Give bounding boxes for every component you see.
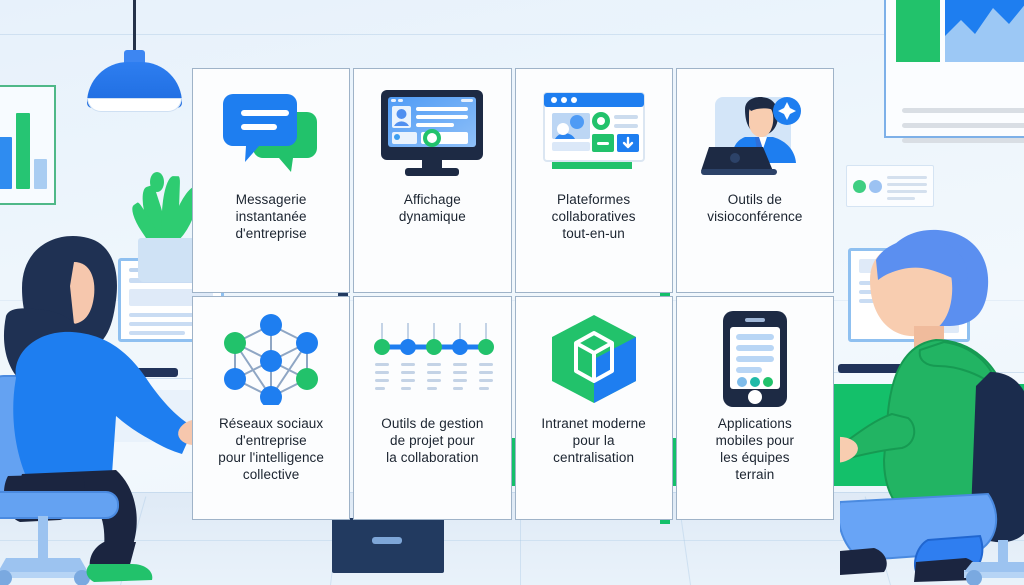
card-label: Messagerieinstantanéed'entreprise (235, 191, 306, 242)
card-text-line (887, 197, 915, 200)
lamp-light (87, 98, 182, 112)
status-dot-green (853, 180, 866, 193)
card-label: Applicationsmobiles pourles équipesterra… (716, 415, 795, 483)
card-label: Plateformescollaborativestout-en-un (552, 191, 636, 242)
video-call-person-icon (701, 85, 809, 181)
card-reseaux[interactable]: Réseaux sociauxd'entreprisepour l'intell… (192, 296, 350, 521)
card-label: Affichagedynamique (399, 191, 466, 225)
poster-green-block (896, 0, 940, 62)
hexagon-cube-icon (546, 313, 642, 405)
smartphone-icon (719, 313, 791, 405)
poster-bar-3 (34, 159, 47, 189)
poster-text-line (902, 123, 1024, 128)
card-mobile[interactable]: Applicationsmobiles pourles équipesterra… (676, 296, 834, 521)
man-figure-svg (840, 222, 1024, 585)
card-label: Outils de gestionde projet pourla collab… (381, 415, 483, 466)
lamp-cord (133, 0, 136, 52)
timeline-gantt-icon (370, 313, 494, 405)
card-gestion-projet[interactable]: Outils de gestionde projet pourla collab… (353, 296, 511, 521)
card-text-line (887, 176, 927, 179)
cabinet-handle (372, 537, 402, 544)
chat-bubbles-icon (219, 85, 323, 181)
card-text-line (887, 190, 927, 193)
card-affichage[interactable]: Affichagedynamique (353, 68, 511, 293)
status-dot-blue (869, 180, 882, 193)
poster-text-line (902, 108, 1024, 113)
poster-chart-svg (945, 0, 1024, 62)
card-label: Réseaux sociauxd'entreprisepour l'intell… (218, 415, 324, 483)
filing-cabinet (332, 518, 444, 573)
card-messagerie[interactable]: Messagerieinstantanéed'entreprise (192, 68, 350, 293)
desktop-monitor-icon (377, 85, 487, 181)
card-text-line (887, 183, 927, 186)
poster-area-chart (945, 0, 1024, 62)
illustration-scene: Messagerieinstantanéed'entreprise (0, 0, 1024, 585)
card-plateformes[interactable]: Plateformescollaborativestout-en-un (515, 68, 673, 293)
card-label: Outils devisioconférence (707, 191, 802, 225)
network-graph-icon (219, 313, 323, 405)
feature-card-grid: Messagerieinstantanéed'entreprise (192, 68, 834, 520)
poster-bar-2 (16, 113, 30, 189)
card-label: Intranet modernepour lacentralisation (541, 415, 645, 466)
poster-bar-1 (0, 137, 12, 189)
notification-card (846, 165, 934, 207)
wall-molding-line (0, 34, 1024, 35)
card-visio[interactable]: Outils devisioconférence (676, 68, 834, 293)
card-intranet[interactable]: Intranet modernepour lacentralisation (515, 296, 673, 521)
bar-chart-poster (0, 85, 56, 205)
man-at-desk (840, 222, 1024, 585)
poster-text-line (902, 138, 1024, 143)
browser-window-icon (538, 85, 650, 181)
